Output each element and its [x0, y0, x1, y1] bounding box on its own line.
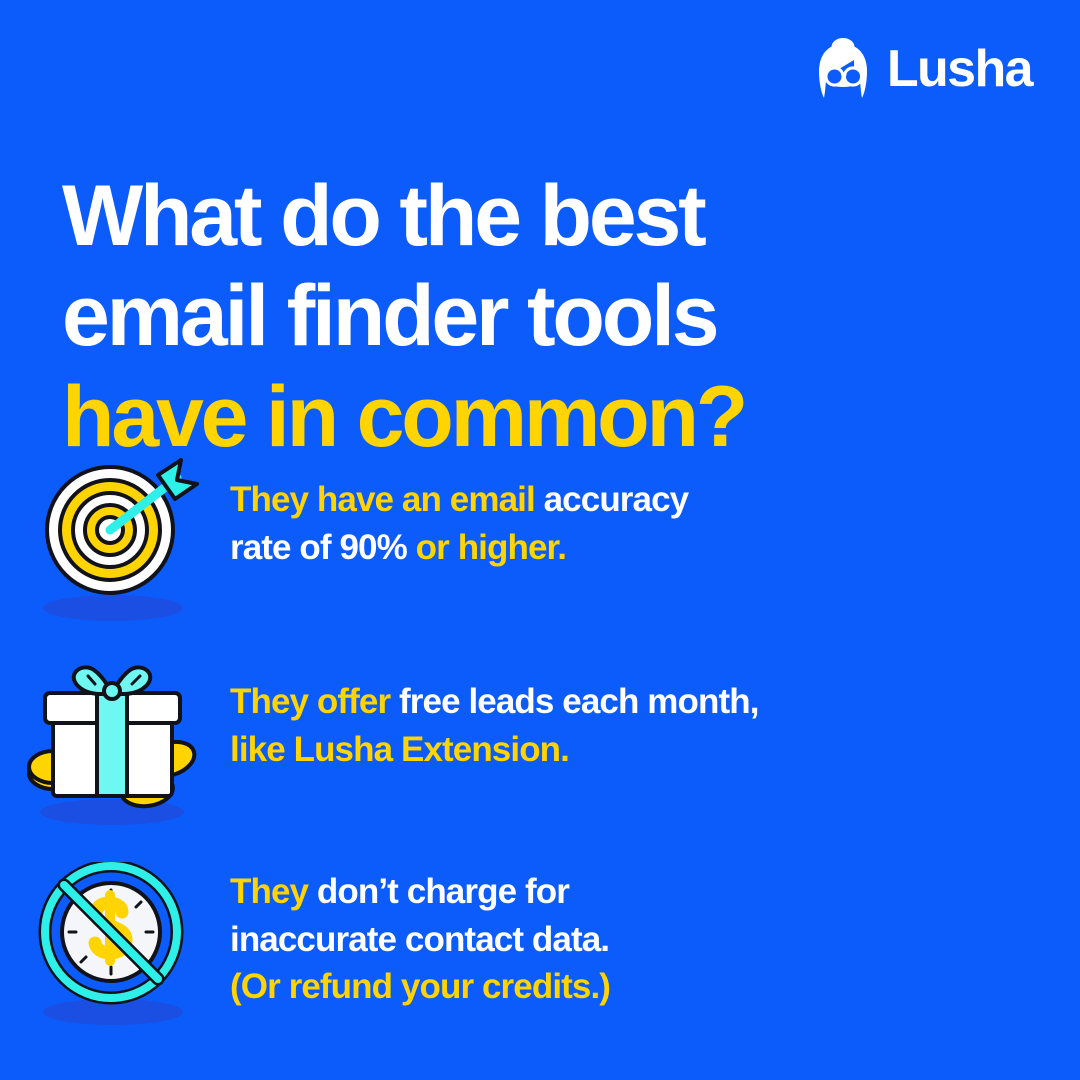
list-item: They have an email accuracy rate of 90% …: [0, 452, 1080, 642]
gift-box-with-coins-icon: [0, 654, 230, 829]
list-item: They don’t charge for inaccurate contact…: [0, 856, 1080, 1046]
headline-line-1: What do the best: [62, 166, 902, 267]
bullet-1-line1-white: accuracy: [535, 480, 688, 519]
headline-line-2: email finder tools: [62, 266, 902, 367]
bullet-2-line1-white: free leads each month,: [390, 682, 758, 721]
bullet-list: They have an email accuracy rate of 90% …: [0, 452, 1080, 1046]
lusha-woman-glasses-icon: [813, 38, 873, 100]
bullet-1-line2-white: rate of 90%: [230, 528, 407, 567]
page-title: What do the best email finder tools have…: [62, 166, 902, 468]
bullet-2-line1-yellow: They offer: [230, 682, 390, 721]
bullet-3-line2-white: inaccurate contact data.: [230, 920, 609, 959]
poster-canvas: Lusha What do the best email finder tool…: [0, 0, 1080, 1080]
bullet-text-1: They have an email accuracy rate of 90% …: [230, 452, 688, 571]
bullet-1-line2-yellow: or higher.: [407, 528, 566, 567]
bullet-text-2: They offer free leads each month, like L…: [230, 654, 759, 773]
bullet-3-line1-yellow: They: [230, 872, 308, 911]
brand-wordmark: Lusha: [887, 43, 1032, 95]
no-charge-clock-dollar-icon: [0, 856, 230, 1031]
bullet-2-line2-yellow: like Lusha Extension.: [230, 730, 569, 769]
bullet-1-line1-yellow: They have an email: [230, 480, 535, 519]
target-dartboard-with-arrow-icon: [0, 452, 230, 627]
brand-logo: Lusha: [813, 38, 1032, 100]
bullet-3-line1-white: don’t charge for: [308, 872, 569, 911]
bullet-3-line3-yellow: (Or refund your credits.): [230, 967, 610, 1006]
list-item: They offer free leads each month, like L…: [0, 654, 1080, 844]
bullet-text-3: They don’t charge for inaccurate contact…: [230, 856, 610, 1011]
